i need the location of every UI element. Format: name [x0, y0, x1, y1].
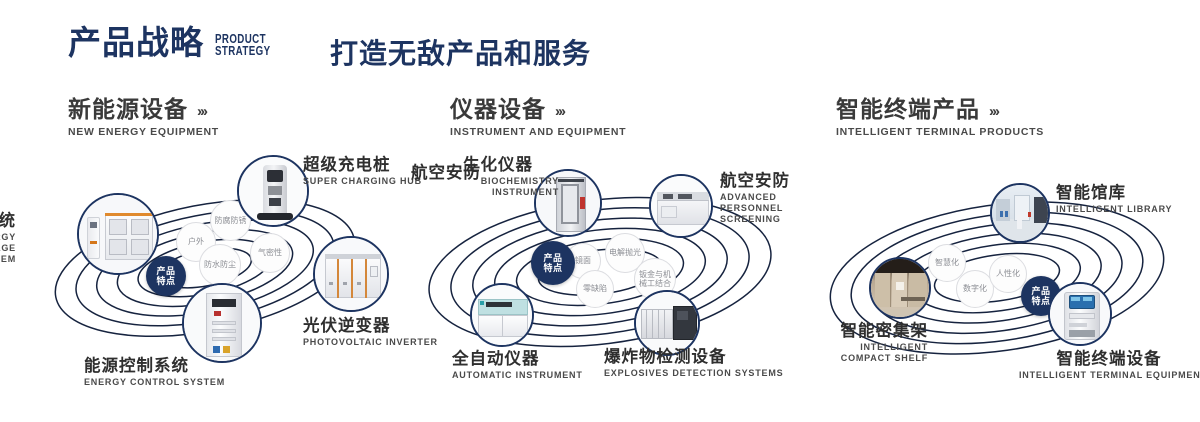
caption-en: ADVANCED PERSONNEL SCREENING	[720, 192, 810, 225]
caption-cn: 智能密集架	[810, 322, 928, 341]
chevron-right-icon: ›››	[555, 103, 564, 120]
node-explosives-detection[interactable]	[634, 290, 700, 356]
poster-canvas: 产品战略 PRODUCT STRATEGY 打造无敌产品和服务 新能源设备›››…	[0, 0, 1200, 422]
node-pv-inverter[interactable]	[313, 236, 389, 312]
caption-intelligent-library: 智能馆库 INTELLIGENT LIBRARY	[1056, 184, 1172, 215]
section-title-cn: 新能源设备	[68, 96, 188, 123]
automatic-instrument-image	[472, 285, 532, 345]
caption-cn: 生化仪器	[463, 156, 559, 175]
caption-biochemistry-instrument: 生化仪器 BIOCHEMISTRY INSTRUMENT	[463, 156, 559, 198]
feature-chip-label: 镜面	[575, 256, 591, 266]
page-title-en: PRODUCT STRATEGY	[215, 33, 270, 57]
feature-chip-label: 数字化	[963, 284, 987, 294]
core-badge-line2: 特点	[543, 263, 562, 274]
feature-chip-label: 人性化	[996, 269, 1020, 279]
feature-chip-label: 气密性	[258, 248, 282, 258]
feature-chip-label: 智慧化	[935, 258, 959, 268]
cluster-intelligent-terminal: 智慧化 数字化 人性化 产品 特点	[800, 150, 1200, 422]
control-cabinet-image	[184, 285, 260, 361]
caption-cn: 智能馆库	[1056, 184, 1172, 203]
section-title-en: INSTRUMENT AND EQUIPMENT	[450, 126, 626, 138]
screening-image	[651, 176, 711, 236]
caption-intelligent-compact-shelf: 智能密集架 INTELLIGENT COMPACT SHELF	[810, 322, 928, 364]
feature-chip-label: 零缺陷	[583, 284, 607, 294]
section-title-en: NEW ENERGY EQUIPMENT	[68, 126, 219, 138]
core-badge-line1: 产品	[1031, 286, 1050, 297]
section-title-new-energy: 新能源设备››› NEW ENERGY EQUIPMENT	[68, 96, 219, 138]
section-title-en: INTELLIGENT TERMINAL PRODUCTS	[836, 126, 1044, 138]
caption-automatic-instrument: 全自动仪器 AUTOMATIC INSTRUMENT	[452, 350, 583, 381]
node-intelligent-terminal-equipment[interactable]	[1048, 282, 1112, 346]
node-intelligent-compact-shelf[interactable]	[869, 257, 931, 319]
section-title-instrument: 仪器设备››› INSTRUMENT AND EQUIPMENT	[450, 96, 626, 138]
chevron-right-icon: ›››	[989, 103, 998, 120]
caption-cn: 全自动仪器	[452, 350, 583, 369]
feature-chip-label: 电解抛光	[609, 248, 641, 258]
caption-intelligent-terminal-equipment: 智能终端设备 INTELLIGENT TERMINAL EQUIPMENT	[1019, 350, 1199, 381]
core-badge-product-features: 产品 特点	[531, 241, 575, 285]
node-intelligent-library[interactable]	[990, 183, 1050, 243]
caption-en: INTELLIGENT TERMINAL EQUIPMENT	[1019, 370, 1199, 381]
feature-chip-label: 防水防尘	[204, 260, 236, 270]
node-energy-storage[interactable]	[77, 193, 159, 275]
energy-storage-image	[79, 195, 157, 273]
section-title-cn: 智能终端产品	[836, 96, 980, 123]
caption-en: INTELLIGENT LIBRARY	[1056, 204, 1172, 215]
charging-hub-image	[239, 157, 307, 225]
caption-cn: 智能终端设备	[1019, 350, 1199, 369]
page-title: 产品战略	[68, 26, 204, 59]
feature-chip-label: 钣金与机械工结合	[637, 270, 673, 289]
caption-cn: 能源控制系统	[84, 357, 225, 376]
caption-energy-control-system: 能源控制系统 ENERGY CONTROL SYSTEM	[84, 357, 225, 388]
caption-cn: 爆炸物检测设备	[604, 348, 783, 367]
cluster-instrument: 镜面 电解抛光 零缺陷 钣金与机械工结合 产品 特点 航空安防	[400, 150, 800, 422]
caption-en: INTELLIGENT COMPACT SHELF	[810, 342, 928, 364]
section-title-cn: 仪器设备	[450, 96, 546, 123]
terminal-image	[1050, 284, 1110, 344]
core-badge-line1: 产品	[543, 253, 562, 264]
feature-chip: 零缺陷	[576, 270, 614, 308]
chevron-right-icon: ›››	[197, 103, 206, 120]
feature-chip-label: 户外	[188, 237, 204, 247]
page-slogan: 打造无敌产品和服务	[330, 32, 591, 72]
caption-cn: 航空安防	[720, 172, 810, 191]
caption-explosives-detection: 爆炸物检测设备 EXPLOSIVES DETECTION SYSTEMS	[604, 348, 783, 379]
library-image	[992, 185, 1048, 241]
page-title-en-line2: STRATEGY	[215, 45, 270, 57]
core-badge-line1: 产品	[156, 266, 175, 277]
node-advanced-personnel-screening[interactable]	[649, 174, 713, 238]
compact-shelf-image	[871, 259, 929, 317]
explosives-image	[636, 292, 698, 354]
caption-en: BIOCHEMISTRY INSTRUMENT	[463, 176, 559, 198]
core-badge-line2: 特点	[156, 276, 175, 287]
section-title-intelligent-terminal: 智能终端产品››› INTELLIGENT TERMINAL PRODUCTS	[836, 96, 1044, 138]
caption-en: EXPLOSIVES DETECTION SYSTEMS	[604, 368, 783, 379]
poster-header: 产品战略 PRODUCT STRATEGY	[68, 26, 286, 59]
node-automatic-instrument[interactable]	[470, 283, 534, 347]
caption-energy-storage: 储能系统 ENERGY STORAGE SYSTEM	[0, 212, 16, 265]
caption-en: ENERGY CONTROL SYSTEM	[84, 377, 225, 388]
caption-cn: 储能系统	[0, 212, 16, 231]
cluster-new-energy: 户外 防腐防锈 防水防尘 气密性 产品 特点	[0, 150, 400, 422]
feature-chip: 人性化	[989, 255, 1027, 293]
caption-advanced-personnel-screening: 航空安防 ADVANCED PERSONNEL SCREENING	[720, 172, 810, 225]
core-badge-line2: 特点	[1031, 296, 1050, 307]
node-charging-hub[interactable]	[237, 155, 309, 227]
pv-inverter-image	[315, 238, 387, 310]
caption-en: ENERGY STORAGE SYSTEM	[0, 232, 16, 265]
node-energy-control-system[interactable]	[182, 283, 262, 363]
caption-en: AUTOMATIC INSTRUMENT	[452, 370, 583, 381]
feature-chip: 防水防尘	[199, 244, 241, 286]
feature-chip: 气密性	[250, 233, 290, 273]
